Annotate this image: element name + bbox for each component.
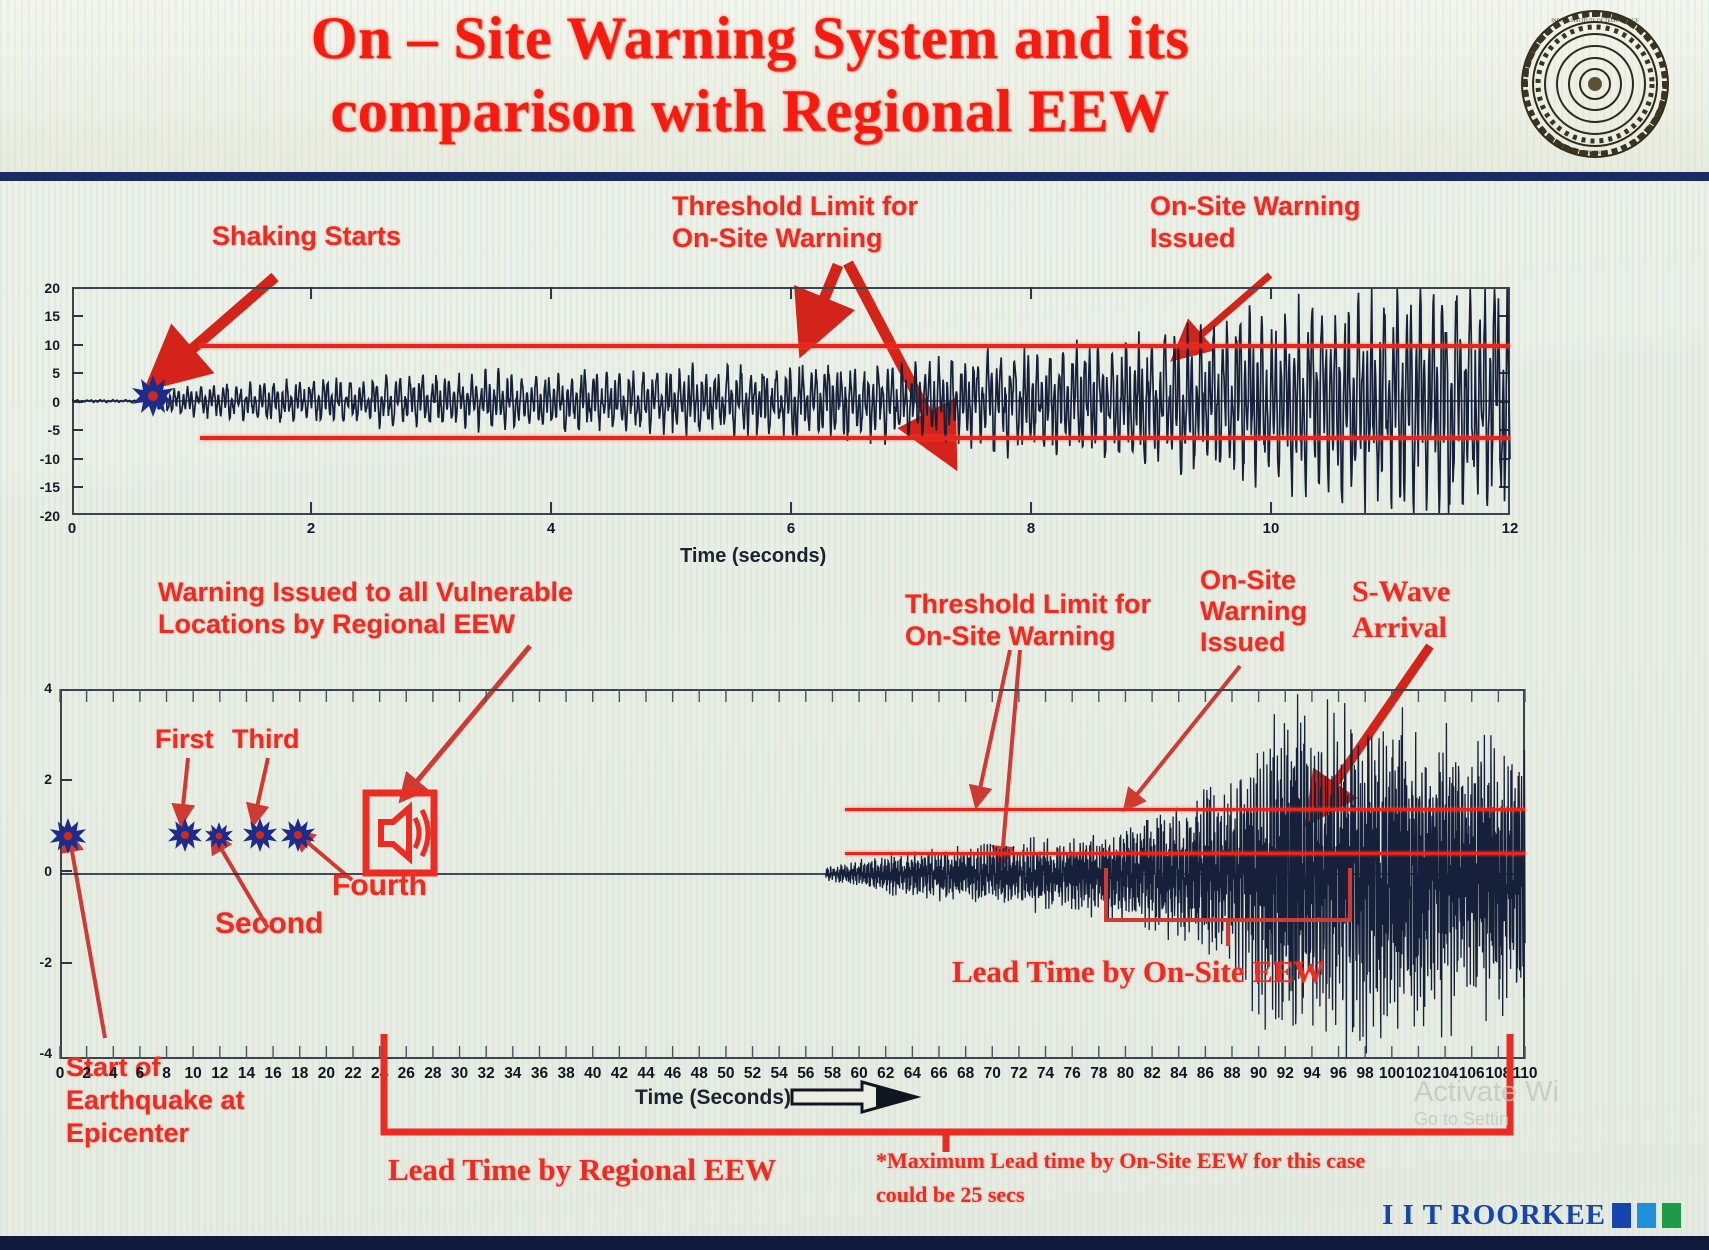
- top-ytick-5: 5: [24, 365, 60, 381]
- top-xtick-2: 2: [291, 520, 331, 537]
- page-title: On – Site Warning System and its compari…: [150, 2, 1350, 148]
- third-station-burst-icon: [243, 818, 277, 852]
- top-ytick-m15: -15: [18, 479, 60, 495]
- epicenter-burst-icon: [50, 818, 86, 854]
- top-seismic-trace: [72, 287, 1510, 515]
- iit-roorkee-footer-brand: I I T ROORKEE: [1382, 1199, 1681, 1232]
- title-banner: On – Site Warning System and its compari…: [0, 0, 1709, 181]
- top-ytick-m10: -10: [18, 451, 60, 467]
- first-station-burst-icon: [168, 818, 202, 852]
- label-second: Second: [215, 906, 323, 942]
- loudspeaker-warning-icon: [363, 790, 437, 876]
- top-xtick-10: 10: [1251, 520, 1291, 537]
- bottom-ytick-4: 4: [20, 680, 52, 696]
- shaking-start-burst-icon: [132, 375, 174, 417]
- title-line-2: comparison with Regional EEW: [150, 75, 1350, 148]
- top-threshold-upper: [200, 344, 1510, 348]
- lead-time-regional-bracket: [378, 1034, 1518, 1154]
- label-lead-time-onsite: Lead Time by On-Site EEW: [952, 953, 1325, 990]
- top-chart: Shaking Starts Threshold Limit for On-Si…: [0, 180, 1709, 575]
- fourth-station-burst-icon: [281, 818, 315, 852]
- bottom-ytick-m4: -4: [14, 1045, 52, 1061]
- top-xtick-12: 12: [1490, 520, 1530, 537]
- top-threshold-lower: [200, 436, 1510, 440]
- top-ytick-10: 10: [24, 337, 60, 353]
- top-xtick-0: 0: [52, 520, 92, 537]
- label-fourth: Fourth: [332, 868, 427, 904]
- bottom-chart: Warning Issued to all Vulnerable Locatio…: [0, 568, 1709, 1250]
- top-xtick-4: 4: [531, 520, 571, 537]
- title-line-1: On – Site Warning System and its: [150, 2, 1350, 75]
- lead-time-onsite-bracket: [1100, 868, 1360, 958]
- footer-bar: [0, 1236, 1709, 1250]
- top-xtick-6: 6: [771, 520, 811, 537]
- top-ytick-m5: -5: [18, 422, 60, 438]
- bottom-ytick-m2: -2: [14, 954, 52, 970]
- top-ytick-15: 15: [24, 308, 60, 324]
- footer-square-1: [1612, 1203, 1631, 1228]
- bottom-threshold-lower: [845, 852, 1525, 855]
- top-ytick-20: 20: [24, 280, 60, 296]
- footer-square-2: [1637, 1203, 1656, 1228]
- slide-page: On – Site Warning System and its compari…: [0, 0, 1709, 1250]
- top-ytick-0: 0: [24, 394, 60, 410]
- top-xaxis-label: Time (seconds): [680, 545, 826, 568]
- iit-roorkee-emblem-icon: INDIAN INSTITUTE OF TECHNOLOGY ROORKEE: [1519, 8, 1671, 160]
- second-station-burst-icon: [205, 822, 233, 850]
- footnote-max-lead-time: *Maximum Lead time by On-Site EEW for th…: [876, 1144, 1365, 1212]
- label-lead-time-regional: Lead Time by Regional EEW: [388, 1151, 776, 1188]
- label-first: First: [155, 723, 214, 755]
- bottom-threshold-upper: [845, 808, 1525, 811]
- bottom-ytick-0: 0: [20, 863, 52, 879]
- bottom-ytick-2: 2: [20, 771, 52, 787]
- top-xtick-8: 8: [1011, 520, 1051, 537]
- footer-square-3: [1662, 1203, 1681, 1228]
- label-third: Third: [232, 723, 300, 755]
- windows-activation-watermark: Activate Wi Go to Settin: [1414, 1076, 1559, 1130]
